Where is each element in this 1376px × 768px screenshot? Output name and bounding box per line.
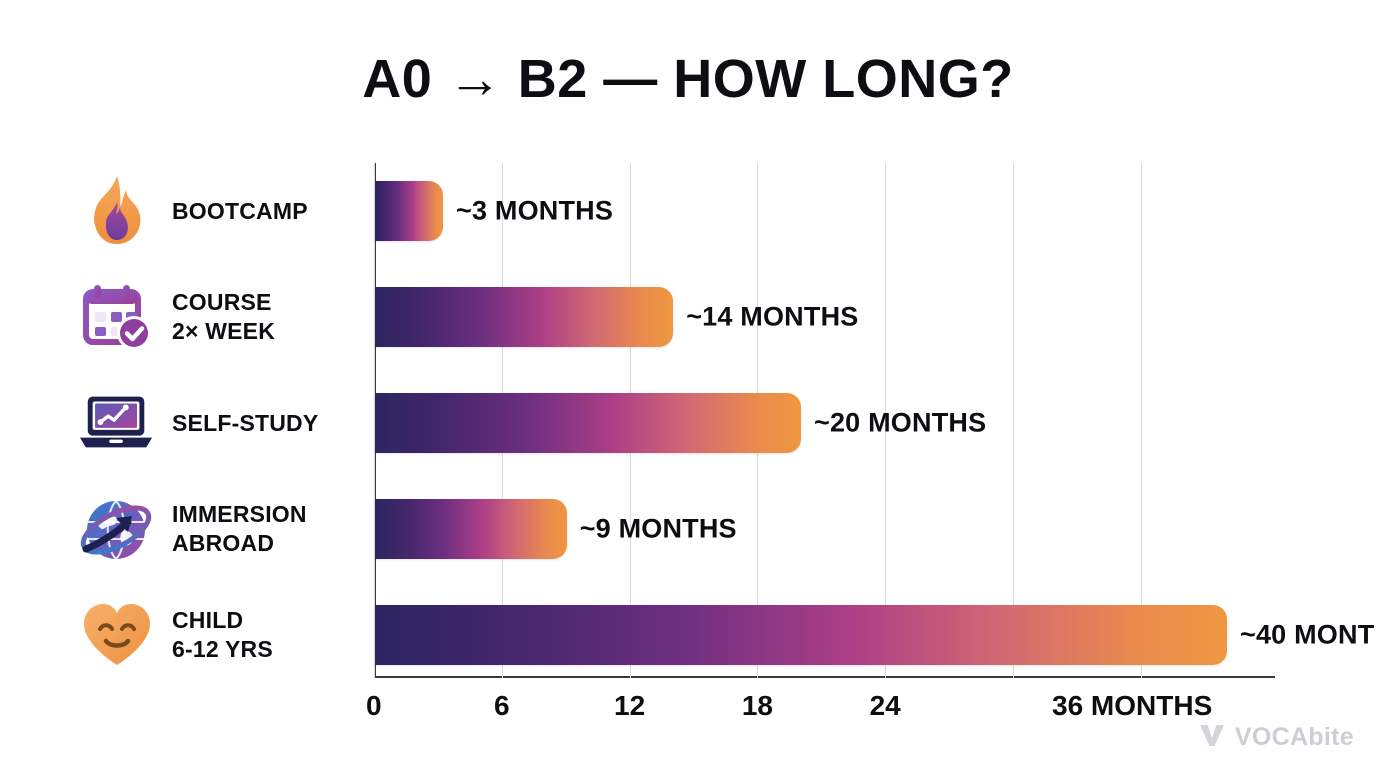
calendar-check-icon	[78, 281, 156, 353]
bar-value-label: ~20 MONTHS	[814, 408, 986, 439]
page-title: A0 → B2 — HOW LONG?	[0, 48, 1376, 110]
chart-plot-area: ~3 MONTHS~14 MONTHS~20 MONTHS~9 MONTHS~4…	[374, 163, 1275, 678]
bar[interactable]	[375, 181, 443, 241]
category-row: SELF-STUDY	[78, 393, 368, 453]
chart-row: ~40 MONTHS	[374, 605, 1275, 665]
bar-value-label: ~14 MONTHS	[686, 302, 858, 333]
category-row: IMMERSION ABROAD	[78, 499, 368, 559]
category-row: COURSE 2× WEEK	[78, 287, 368, 347]
category-label: COURSE 2× WEEK	[172, 288, 275, 346]
bar[interactable]	[375, 605, 1227, 665]
watermark: VOCAbite	[1197, 721, 1354, 754]
bar-value-label: ~9 MONTHS	[580, 514, 737, 545]
x-tick-label: 18	[742, 690, 773, 722]
chart-row: ~20 MONTHS	[374, 393, 1275, 453]
chart-row: ~9 MONTHS	[374, 499, 1275, 559]
x-tick-label: 12	[614, 690, 645, 722]
smiling-heart-icon	[78, 599, 156, 671]
x-tick-label: 36 MONTHS	[1052, 690, 1212, 722]
x-tick-label: 6	[494, 690, 510, 722]
x-tick-label: 24	[870, 690, 901, 722]
category-label: SELF-STUDY	[172, 409, 318, 438]
bar[interactable]	[375, 287, 673, 347]
x-tick-label: 0	[366, 690, 382, 722]
category-label: BOOTCAMP	[172, 197, 308, 226]
bar[interactable]	[375, 393, 801, 453]
chart-row: ~3 MONTHS	[374, 181, 1275, 241]
category-label: IMMERSION ABROAD	[172, 500, 307, 558]
chart-row: ~14 MONTHS	[374, 287, 1275, 347]
bar[interactable]	[375, 499, 567, 559]
watermark-text: VOCAbite	[1235, 723, 1354, 752]
category-label: CHILD 6-12 YRS	[172, 606, 273, 664]
v-logo-icon	[1197, 721, 1227, 754]
category-row: BOOTCAMP	[78, 181, 368, 241]
flame-icon	[78, 175, 156, 247]
category-row: CHILD 6-12 YRS	[78, 605, 368, 665]
bar-value-label: ~3 MONTHS	[456, 196, 613, 227]
globe-arrow-icon	[78, 493, 156, 565]
laptop-chart-icon	[78, 387, 156, 459]
bar-value-label: ~40 MONTHS	[1240, 620, 1376, 651]
